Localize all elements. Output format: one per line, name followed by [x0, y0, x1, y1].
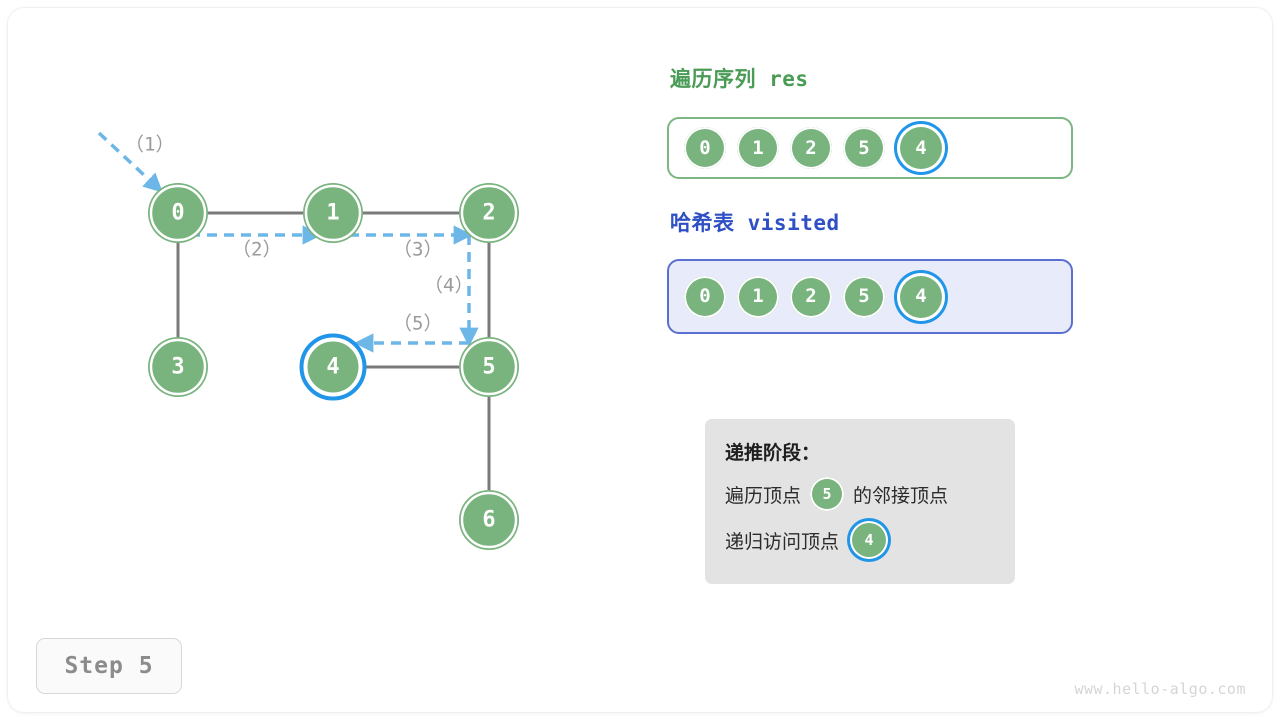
info-heading: 递推阶段： [725, 437, 995, 465]
traversal-label-1: （1） [125, 134, 174, 156]
visited-chip-4[interactable]: 4 [900, 276, 942, 318]
visited-chip-1[interactable]: 1 [737, 276, 779, 318]
graph-canvas: 0 1 2 3 [0, 0, 1280, 720]
graph-node-3[interactable]: 3 [148, 337, 208, 397]
graph-node-5[interactable]: 5 [459, 337, 519, 397]
res-chip-4[interactable]: 4 [900, 127, 942, 169]
res-chip-3[interactable]: 5 [843, 127, 885, 169]
graph-node-1[interactable]: 1 [303, 183, 363, 243]
traversal-label-3: （3） [393, 239, 442, 261]
visited-sequence-box: 0 1 2 5 4 [667, 259, 1073, 334]
visited-chip-2[interactable]: 2 [790, 276, 832, 318]
visited-panel-title: 哈希表 visited [670, 207, 840, 237]
visited-chip-4-label: 4 [915, 287, 926, 306]
res-chip-3-label: 5 [858, 139, 869, 158]
traversal-label-5: （5） [393, 313, 442, 335]
info-line-recurse: 递归访问顶点 4 [725, 517, 995, 563]
graph-node-6-label: 6 [482, 508, 495, 533]
graph-nodes: 0 1 2 3 [148, 183, 519, 550]
visited-chip-2-label: 2 [805, 287, 816, 306]
res-chip-0-label: 0 [699, 139, 710, 158]
info-chip-5-label: 5 [823, 487, 832, 502]
graph-node-4[interactable]: 4 [302, 336, 365, 399]
info-chip-5: 5 [810, 477, 844, 511]
res-chip-1[interactable]: 1 [737, 127, 779, 169]
graph-node-1-label: 1 [326, 201, 339, 226]
graph-node-0[interactable]: 0 [148, 183, 208, 243]
step-badge: Step 5 [36, 638, 182, 694]
graph-node-6[interactable]: 6 [459, 490, 519, 550]
graph-node-5-label: 5 [482, 355, 495, 380]
res-panel-title: 遍历序列 res [670, 63, 809, 93]
res-chip-2[interactable]: 2 [790, 127, 832, 169]
visited-chip-0[interactable]: 0 [684, 276, 726, 318]
traversal-label-4: （4） [424, 275, 473, 297]
visited-chip-0-label: 0 [699, 287, 710, 306]
res-chip-4-label: 4 [915, 139, 926, 158]
graph-node-2-label: 2 [482, 201, 495, 226]
graph-node-3-label: 3 [171, 355, 184, 380]
diagram-content: 0 1 2 3 [0, 0, 1280, 720]
graph-node-4-label: 4 [326, 355, 339, 380]
info-chip-4-label: 4 [865, 533, 874, 548]
graph-node-0-label: 0 [171, 201, 184, 226]
res-chip-2-label: 2 [805, 139, 816, 158]
res-chip-1-label: 1 [752, 139, 763, 158]
step-badge-label: Step 5 [64, 653, 153, 679]
diagram-page: 0 1 2 3 [0, 0, 1280, 720]
info-line-traverse-suffix: 的邻接顶点 [853, 481, 948, 508]
res-chip-0[interactable]: 0 [684, 127, 726, 169]
recursion-info-box: 递推阶段： 遍历顶点 5 的邻接顶点 递归访问顶点 4 [705, 419, 1015, 584]
info-line-recurse-prefix: 递归访问顶点 [725, 527, 839, 554]
visited-chip-3-label: 5 [858, 287, 869, 306]
traversal-label-2: （2） [232, 239, 281, 261]
res-sequence-box: 0 1 2 5 4 [667, 117, 1073, 179]
visited-chip-1-label: 1 [752, 287, 763, 306]
info-line-traverse-prefix: 遍历顶点 [725, 481, 801, 508]
info-chip-4: 4 [852, 523, 886, 557]
info-line-traverse: 遍历顶点 5 的邻接顶点 [725, 471, 995, 517]
graph-node-2[interactable]: 2 [459, 183, 519, 243]
watermark: www.hello-algo.com [1074, 680, 1246, 698]
visited-chip-3[interactable]: 5 [843, 276, 885, 318]
